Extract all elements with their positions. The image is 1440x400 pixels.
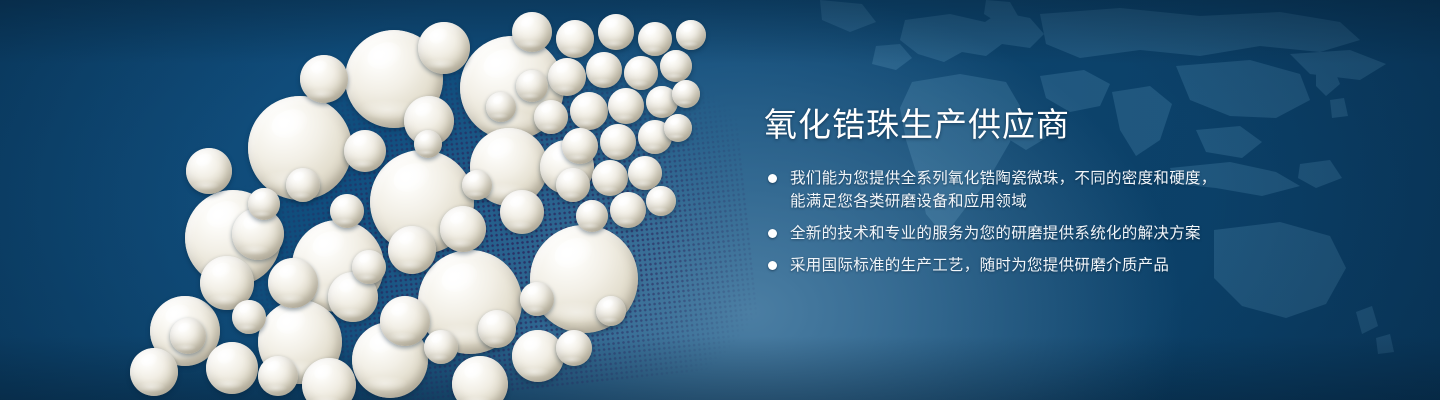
bullet-line: 采用国际标准的生产工艺，随时为您提供研磨介质产品 bbox=[790, 254, 1384, 277]
list-item: 采用国际标准的生产工艺，随时为您提供研磨介质产品 bbox=[764, 254, 1384, 277]
hero-banner: 氧化锆珠生产供应商 我们能为您提供全系列氧化锆陶瓷微珠，不同的密度和硬度， 能满… bbox=[0, 0, 1440, 400]
feature-bullet-list: 我们能为您提供全系列氧化锆陶瓷微珠，不同的密度和硬度， 能满足您各类研磨设备和应… bbox=[764, 167, 1384, 277]
bullet-line: 能满足您各类研磨设备和应用领域 bbox=[790, 190, 1384, 213]
list-item: 全新的技术和专业的服务为您的研磨提供系统化的解决方案 bbox=[764, 222, 1384, 245]
bullet-line: 我们能为您提供全系列氧化锆陶瓷微珠，不同的密度和硬度， bbox=[790, 167, 1384, 190]
bullet-dot-icon bbox=[768, 174, 777, 183]
banner-content: 氧化锆珠生产供应商 我们能为您提供全系列氧化锆陶瓷微珠，不同的密度和硬度， 能满… bbox=[764, 105, 1384, 277]
bullet-dot-icon bbox=[768, 261, 777, 270]
bullet-dot-icon bbox=[768, 229, 777, 238]
bullet-line: 全新的技术和专业的服务为您的研磨提供系统化的解决方案 bbox=[790, 222, 1384, 245]
page-title: 氧化锆珠生产供应商 bbox=[764, 105, 1384, 145]
list-item: 我们能为您提供全系列氧化锆陶瓷微珠，不同的密度和硬度， 能满足您各类研磨设备和应… bbox=[764, 167, 1384, 213]
halftone-dot-texture bbox=[86, 0, 764, 400]
